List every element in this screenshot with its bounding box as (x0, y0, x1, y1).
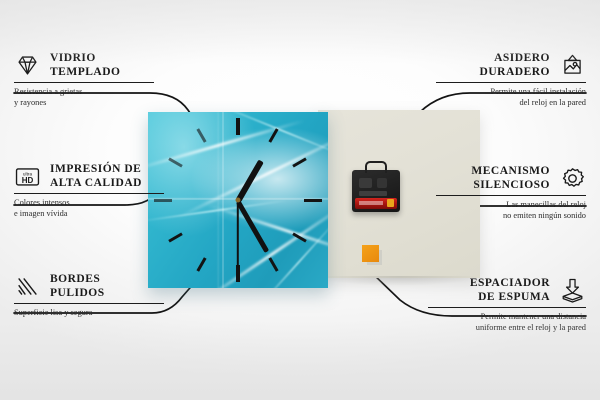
foam-spacer-icon (559, 277, 586, 304)
feature-vidrio-templado: VIDRIO TEMPLADO Resistencia a grietas y … (14, 52, 154, 108)
infographic-canvas: VIDRIO TEMPLADO Resistencia a grietas y … (0, 0, 600, 400)
feature-impresion-alta-calidad: ultra HD IMPRESIÓN DE ALTA CALIDAD Color… (14, 163, 164, 219)
clock-tick (236, 118, 240, 135)
feature-sub-line2: del reloj en la pared (519, 98, 586, 107)
clock-tick (304, 199, 322, 202)
feature-sub-line2: y rayones (14, 98, 46, 107)
picture-frame-hanging-icon (559, 52, 586, 79)
feature-title-line1: ASIDERO (494, 52, 550, 64)
diamond-icon (14, 52, 41, 79)
feature-sub-line1: Permite mantener una distancia (481, 312, 586, 321)
foam-spacer-piece (362, 245, 379, 262)
feature-sub-line1: Colores intensos (14, 198, 70, 207)
glass-wall-clock (148, 112, 328, 288)
mechanism-slot (359, 191, 387, 196)
mechanism-knob-secondary (377, 178, 387, 188)
feature-divider (14, 193, 164, 194)
battery (355, 198, 397, 209)
feature-title-line2: DURADERO (480, 66, 550, 78)
mechanism-knob (359, 178, 372, 188)
feature-bordes-pulidos: BORDES PULIDOS Superficie lisa y segura (14, 273, 164, 319)
clock-center-pin (236, 198, 241, 203)
feature-sub-line1: Permite una fácil instalación (490, 87, 586, 96)
mechanism-hanger-icon (365, 161, 387, 173)
feature-title-line1: VIDRIO (50, 52, 96, 64)
feature-title-line2: TEMPLADO (50, 66, 120, 78)
battery-plus-terminal (387, 199, 394, 207)
feature-title-line1: BORDES (50, 273, 100, 285)
feature-asidero-duradero: ASIDERO DURADERO Permite una fácil insta… (436, 52, 586, 108)
gear-icon (559, 165, 586, 192)
feature-title-line2: ALTA CALIDAD (50, 177, 142, 189)
feature-title-line1: ESPACIADOR (470, 277, 550, 289)
ultra-hd-icon: ultra HD (14, 163, 41, 190)
clock-second-hand (237, 200, 239, 268)
feature-title-line2: PULIDOS (50, 287, 105, 299)
feature-espaciador-espuma: ESPACIADOR DE ESPUMA Permite mantener un… (428, 277, 586, 333)
svg-text:HD: HD (22, 176, 34, 185)
feature-sub-line1: Superficie lisa y segura (14, 308, 92, 317)
feature-sub-line1: Las manecillas del reloj (506, 200, 586, 209)
feature-divider (14, 303, 164, 304)
feature-title-line1: MECANISMO (471, 165, 550, 177)
clock-mechanism (352, 170, 400, 212)
feature-sub-line2: no emiten ningún sonido (503, 211, 586, 220)
feature-title-line2: DE ESPUMA (478, 291, 550, 303)
feature-sub-line2: uniforme entre el reloj y la pared (476, 323, 586, 332)
feature-divider (14, 82, 154, 83)
feature-divider (436, 195, 586, 196)
feature-sub-line2: e imagen vívida (14, 209, 68, 218)
feature-divider (436, 82, 586, 83)
feature-sub-line1: Resistencia a grietas (14, 87, 82, 96)
feature-title-line2: SILENCIOSO (473, 179, 550, 191)
feature-divider (428, 307, 586, 308)
battery-label (359, 201, 383, 205)
feature-mecanismo-silencioso: MECANISMO SILENCIOSO Las manecillas del … (436, 165, 586, 221)
feature-title-line1: IMPRESIÓN DE (50, 163, 141, 175)
polished-edges-icon (14, 273, 41, 300)
